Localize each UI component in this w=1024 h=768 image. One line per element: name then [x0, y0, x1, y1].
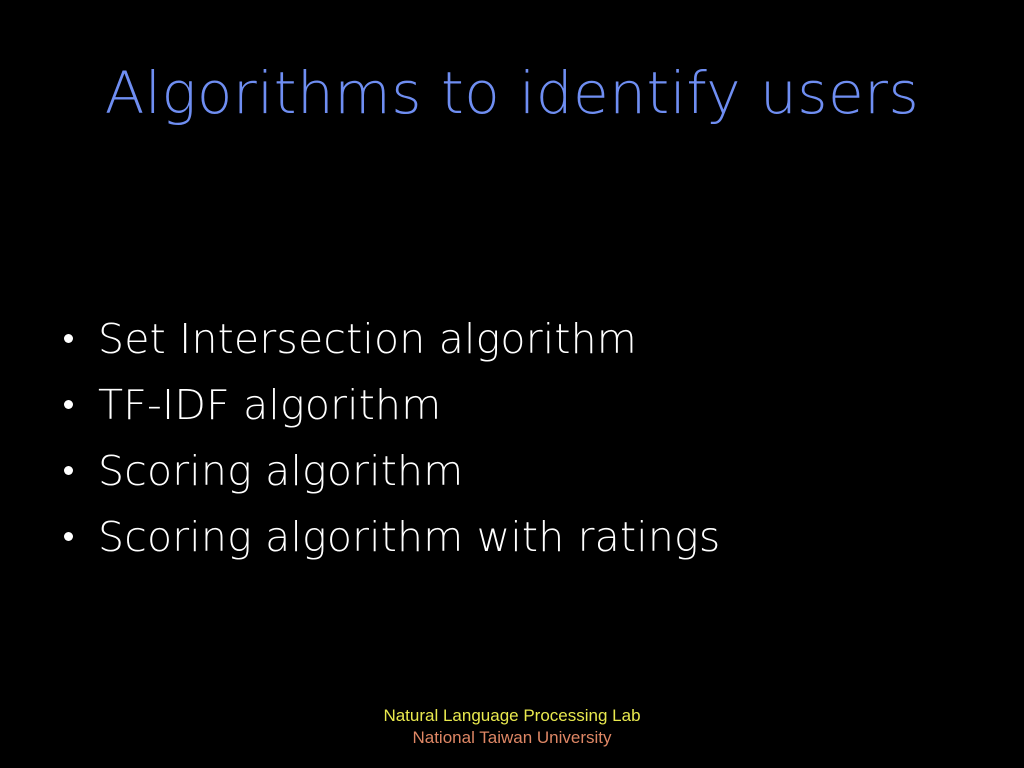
footer-lab-name: Natural Language Processing Lab — [0, 705, 1024, 727]
slide-footer: Natural Language Processing Lab National… — [0, 705, 1024, 749]
list-item: Scoring algorithm — [62, 438, 962, 504]
bullet-point-icon — [64, 334, 73, 343]
list-item: TF-IDF algorithm — [62, 372, 962, 438]
list-item-label: Set Intersection algorithm — [98, 306, 637, 372]
presentation-slide: Algorithms to identify users Set Interse… — [0, 0, 1024, 768]
list-item-label: TF-IDF algorithm — [98, 372, 441, 438]
list-item-label: Scoring algorithm with ratings — [98, 504, 720, 570]
list-item: Set Intersection algorithm — [62, 306, 962, 372]
page-title: Algorithms to identify users — [0, 57, 1024, 129]
list-item-label: Scoring algorithm — [98, 438, 463, 504]
list-item: Scoring algorithm with ratings — [62, 504, 962, 570]
bullet-point-icon — [64, 400, 73, 409]
bullet-point-icon — [64, 466, 73, 475]
footer-university-name: National Taiwan University — [0, 727, 1024, 749]
bullet-point-icon — [64, 532, 73, 541]
bullet-list: Set Intersection algorithm TF-IDF algori… — [62, 306, 962, 570]
